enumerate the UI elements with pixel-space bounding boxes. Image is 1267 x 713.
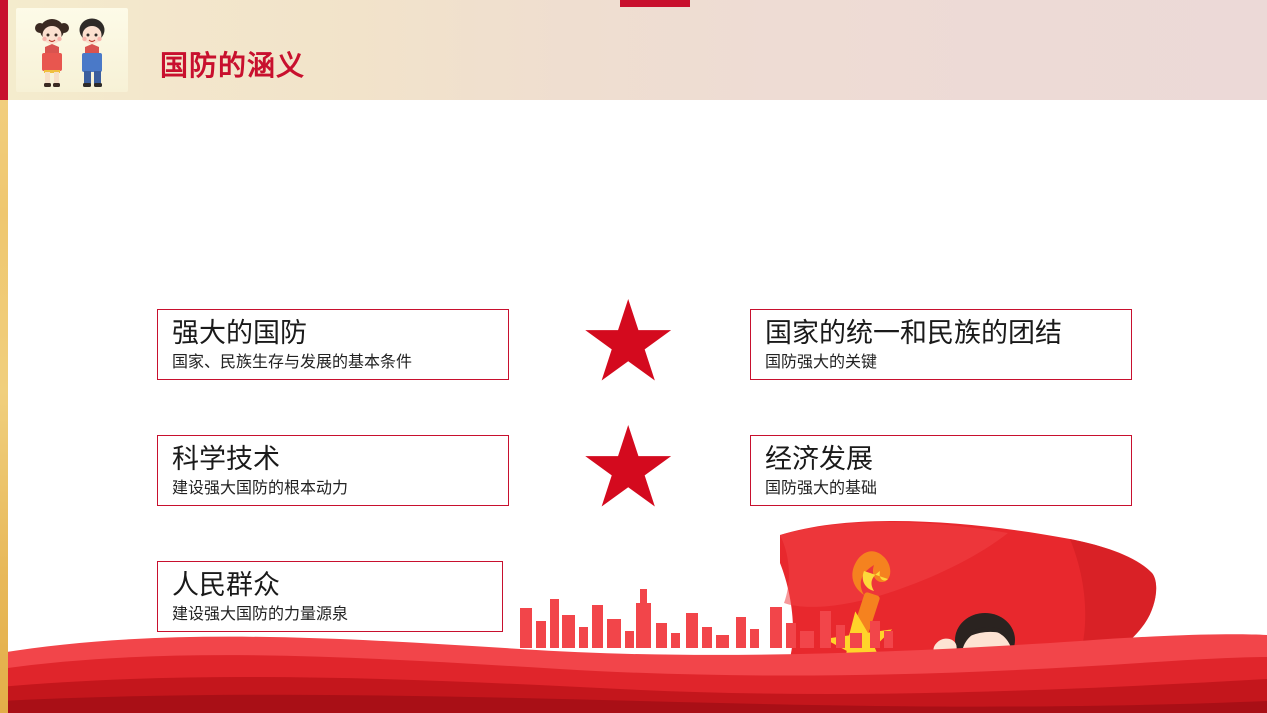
concept-box-national-unity[interactable]: 国家的统一和民族的团结 国防强大的关键: [750, 309, 1132, 380]
concept-box-economic-development[interactable]: 经济发展 国防强大的基础: [750, 435, 1132, 506]
page-title: 国防的涵义: [160, 44, 305, 84]
left-accent-stripe: [0, 0, 8, 713]
concept-title: 国家的统一和民族的团结: [765, 318, 1117, 350]
slide-header: 国防的涵义: [0, 0, 1267, 100]
left-accent-stripe-red: [0, 0, 8, 100]
concept-subtitle: 国防强大的基础: [765, 479, 1117, 500]
bottom-skyline-decoration: [0, 583, 1267, 713]
concept-title: 科学技术: [172, 444, 494, 476]
two-children-cartoon-icon: [16, 8, 128, 92]
star-icon: ★: [578, 286, 678, 398]
slide: 国防的涵义 ★ ★: [0, 0, 1267, 713]
star-icon: ★: [578, 412, 678, 524]
concept-subtitle: 建设强大国防的根本动力: [172, 479, 494, 500]
concept-title: 强大的国防: [172, 318, 494, 350]
concept-subtitle: 国防强大的关键: [765, 353, 1117, 374]
concept-box-science-technology[interactable]: 科学技术 建设强大国防的根本动力: [157, 435, 509, 506]
header-top-accent: [620, 0, 690, 7]
concept-title: 经济发展: [765, 444, 1117, 476]
concept-subtitle: 国家、民族生存与发展的基本条件: [172, 353, 494, 374]
concept-box-strong-defense[interactable]: 强大的国防 国家、民族生存与发展的基本条件: [157, 309, 509, 380]
